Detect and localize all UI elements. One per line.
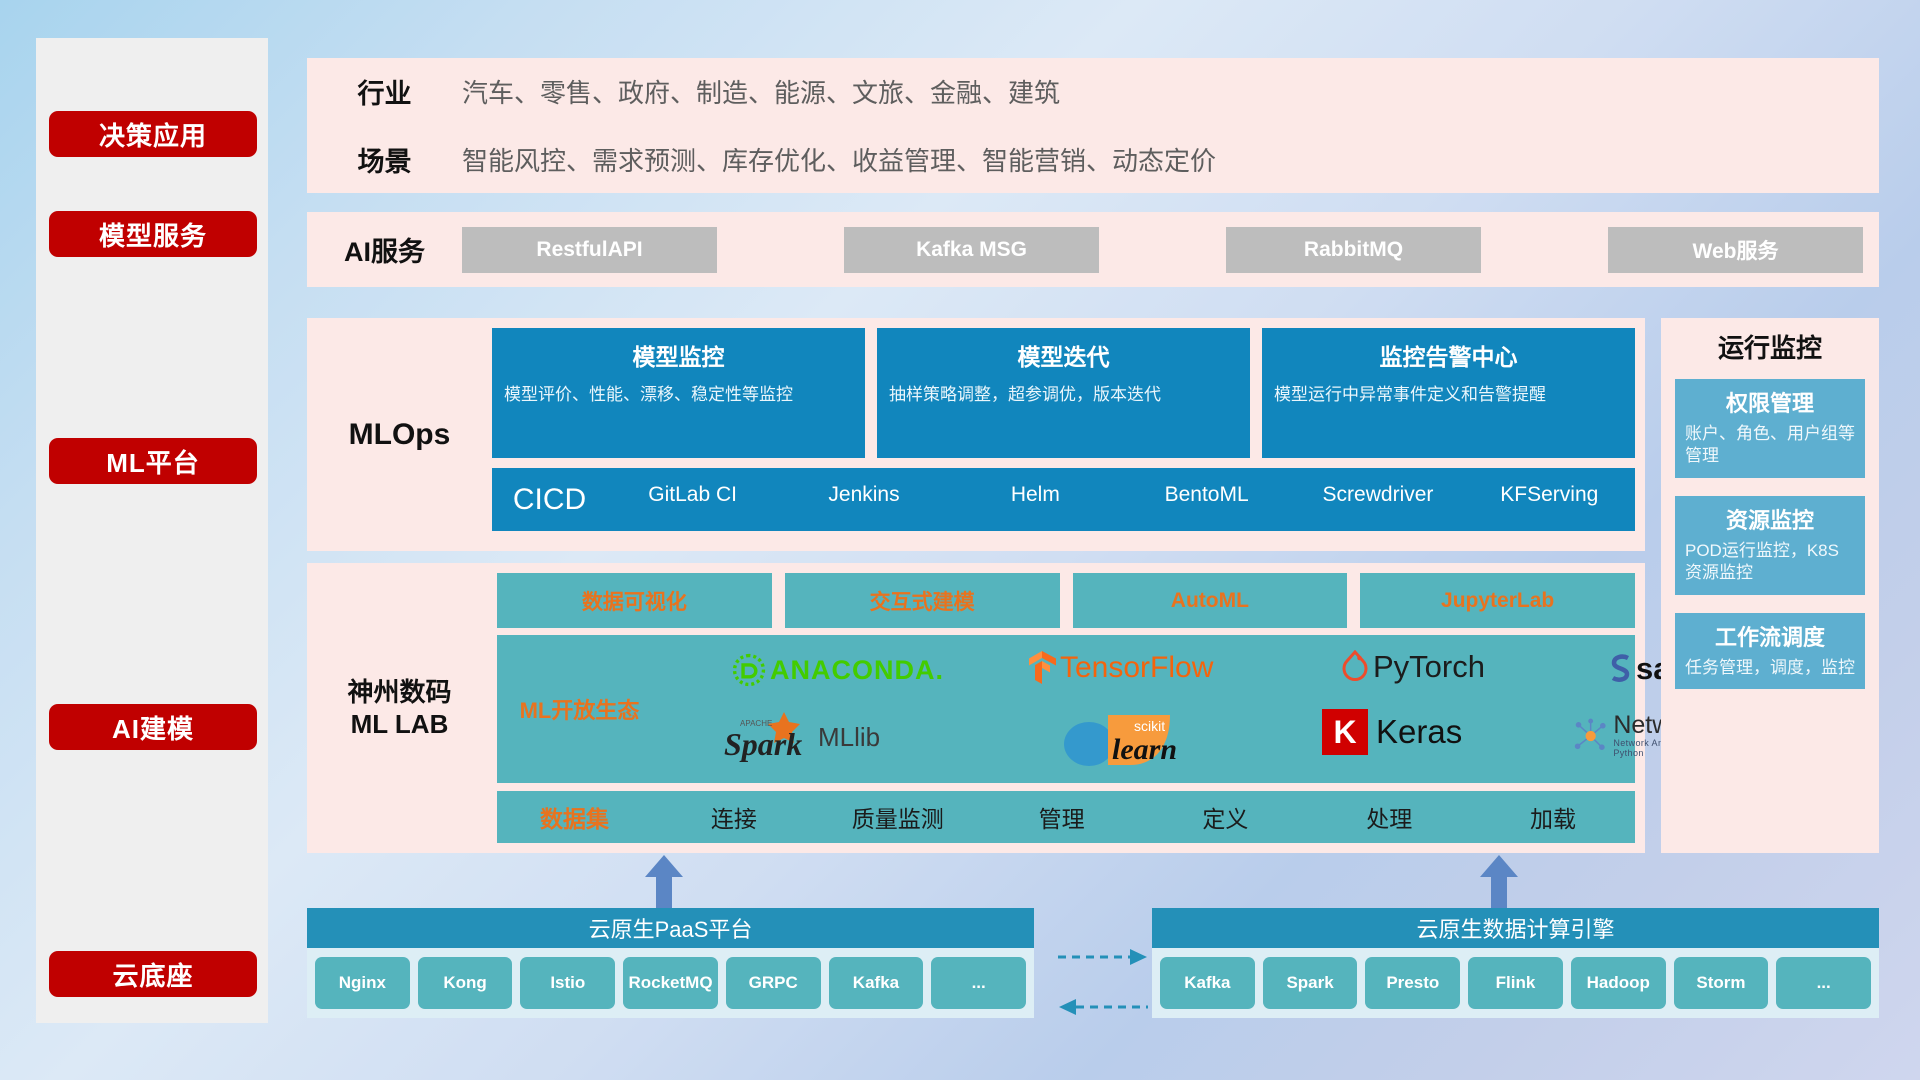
rail-label: AI建模 [112,709,194,746]
cloud-data-engine-group: 云原生数据计算引擎 Kafka Spark Presto Flink Hadoo… [1152,908,1879,1018]
cloud-data-engine-title: 云原生数据计算引擎 [1152,908,1879,948]
cloud-chip-grpc[interactable]: GRPC [726,957,821,1009]
ai-service-label: AI服务 [307,230,462,269]
decision-application-panel: 行业 汽车、零售、政府、制造、能源、文旅、金融、建筑 场景 智能风控、需求预测、… [307,58,1879,193]
ml-ecosystem-label: ML开放生态 [497,693,662,725]
dataset-row: 数据集 连接 质量监测 管理 定义 处理 加载 [497,791,1635,843]
tensorflow-wordmark: TensorFlow [1060,651,1213,685]
card-desc: 模型评价、性能、漂移、稳定性等监控 [504,384,853,407]
cicd-item-gitlab-ci[interactable]: GitLab CI [607,484,778,506]
tensorflow-mark-icon [1027,649,1059,687]
spark-mllib-logo: APACHE Spark MLlib [722,709,880,765]
rail-item-ai-modeling[interactable]: AI建模 [49,704,257,750]
mlops-card-model-monitoring[interactable]: 模型监控 模型评价、性能、漂移、稳定性等监控 [492,328,865,458]
cloud-chip-istio[interactable]: Istio [520,957,615,1009]
rail-item-ml-platform[interactable]: ML平台 [49,438,257,484]
cicd-item-screwdriver[interactable]: Screwdriver [1292,484,1463,506]
sas-mark-icon [1607,653,1635,685]
card-title: 监控告警中心 [1274,338,1623,372]
card-desc: 任务管理，调度，监控 [1685,657,1855,679]
card-title: 权限管理 [1685,386,1855,418]
mllib-wordmark: MLlib [818,722,880,753]
keras-logo: K Keras [1322,709,1462,755]
left-rail: 决策应用 模型服务 ML平台 AI建模 云底座 [36,38,268,1023]
svg-text:scikit: scikit [1134,718,1165,734]
cloud-chip-kafka[interactable]: Kafka [829,957,924,1009]
dataset-item-manage[interactable]: 管理 [980,800,1144,834]
service-button-restfulapi[interactable]: RestfulAPI [462,227,717,273]
left-arrow-icon [1058,998,1148,1021]
networkx-mark-icon [1572,716,1609,756]
svg-text:Spark: Spark [724,726,802,762]
card-desc: 模型运行中异常事件定义和告警提醒 [1274,384,1623,407]
dataset-item-connect[interactable]: 连接 [652,800,816,834]
industry-row: 行业 汽车、零售、政府、制造、能源、文旅、金融、建筑 [307,58,1879,126]
svg-text:learn: learn [1112,733,1177,766]
cicd-item-kfserving[interactable]: KFServing [1464,484,1635,506]
right-arrow-icon [1058,948,1148,971]
card-desc: POD运行监控，K8S资源监控 [1685,540,1855,585]
scenario-values: 智能风控、需求预测、库存优化、收益管理、智能营销、动态定价 [462,141,1216,178]
industry-values: 汽车、零售、政府、制造、能源、文旅、金融、建筑 [462,73,1060,110]
ai-modeling-panel: 神州数码 ML LAB 数据可视化 交互式建模 AutoML JupyterLa… [307,563,1645,853]
monitor-card-workflow[interactable]: 工作流调度 任务管理，调度，监控 [1675,613,1865,689]
cloud-chip-rocketmq[interactable]: RocketMQ [623,957,718,1009]
card-title: 资源监控 [1685,503,1855,535]
dataset-item-define[interactable]: 定义 [1143,800,1307,834]
rail-label: 云底座 [112,956,193,993]
dataset-label: 数据集 [497,800,652,834]
scikit-learn-logo: scikit learn [1062,709,1212,771]
ml-ecosystem-logos: ANACONDA. TensorFlow PyTorch [662,635,1635,783]
tool-row: 数据可视化 交互式建模 AutoML JupyterLab [497,573,1635,628]
ml-lab-line2: ML LAB [351,708,449,741]
tool-interactive-modeling[interactable]: 交互式建模 [785,573,1060,628]
monitor-card-permission[interactable]: 权限管理 账户、角色、用户组等管理 [1675,379,1865,478]
cloud-chip-storm[interactable]: Storm [1674,957,1769,1009]
cicd-bar: CICD GitLab CI Jenkins Helm BentoML Scre… [492,468,1635,531]
mlops-panel: MLOps 模型监控 模型评价、性能、漂移、稳定性等监控 模型迭代 抽样策略调整… [307,318,1645,551]
pytorch-logo: PyTorch [1342,649,1485,685]
tensorflow-logo: TensorFlow [1027,649,1213,687]
service-button-kafka-msg[interactable]: Kafka MSG [844,227,1099,273]
rail-item-decision[interactable]: 决策应用 [49,111,257,157]
rail-item-cloud-base[interactable]: 云底座 [49,951,257,997]
cloud-data-engine-chip-list: Kafka Spark Presto Flink Hadoop Storm ..… [1152,948,1879,1018]
cloud-chip-hadoop[interactable]: Hadoop [1571,957,1666,1009]
cloud-chip-kong[interactable]: Kong [418,957,513,1009]
runtime-monitor-panel: 运行监控 权限管理 账户、角色、用户组等管理 资源监控 POD运行监控，K8S资… [1661,318,1879,853]
rail-label: 模型服务 [99,216,207,253]
scenario-row: 场景 智能风控、需求预测、库存优化、收益管理、智能营销、动态定价 [307,126,1879,194]
rail-item-model-service[interactable]: 模型服务 [49,211,257,257]
pytorch-wordmark: PyTorch [1373,649,1485,685]
dataset-item-quality-monitor[interactable]: 质量监测 [816,800,980,834]
ml-ecosystem-row: ML开放生态 ANACONDA. TensorFlow [497,635,1635,783]
anaconda-wordmark: ANACONDA. [770,655,944,686]
cloud-chip-presto[interactable]: Presto [1365,957,1460,1009]
keras-wordmark: Keras [1376,713,1462,751]
anaconda-logo: ANACONDA. [732,653,944,687]
monitor-card-resource[interactable]: 资源监控 POD运行监控，K8S资源监控 [1675,496,1865,595]
cicd-item-bentoml[interactable]: BentoML [1121,484,1292,506]
card-desc: 账户、角色、用户组等管理 [1685,423,1855,468]
cicd-title: CICD [492,483,607,517]
cloud-chip-spark[interactable]: Spark [1263,957,1358,1009]
industry-label: 行业 [307,72,462,111]
cicd-item-jenkins[interactable]: Jenkins [778,484,949,506]
card-desc: 抽样策略调整，超参调优，版本迭代 [889,384,1238,407]
cloud-chip-more[interactable]: ... [1776,957,1871,1009]
cloud-paas-title: 云原生PaaS平台 [307,908,1034,948]
ml-lab-label: 神州数码 ML LAB [307,563,492,853]
service-button-rabbitmq[interactable]: RabbitMQ [1226,227,1481,273]
scenario-label: 场景 [307,140,462,179]
anaconda-mark-icon [732,653,766,687]
cloud-chip-flink[interactable]: Flink [1468,957,1563,1009]
cloud-paas-group: 云原生PaaS平台 Nginx Kong Istio RocketMQ GRPC… [307,908,1034,1018]
runtime-monitor-title: 运行监控 [1661,318,1879,379]
card-title: 工作流调度 [1685,620,1855,652]
service-button-web[interactable]: Web服务 [1608,227,1863,273]
spark-mark-icon: APACHE Spark [722,709,812,765]
mlops-card-alert-center[interactable]: 监控告警中心 模型运行中异常事件定义和告警提醒 [1262,328,1635,458]
scikit-learn-mark-icon: scikit learn [1062,709,1212,771]
tool-jupyterlab[interactable]: JupyterLab [1360,573,1635,628]
pytorch-mark-icon [1342,650,1368,684]
card-title: 模型迭代 [889,338,1238,372]
dataset-item-load[interactable]: 加载 [1471,800,1635,834]
mlops-card-model-iteration[interactable]: 模型迭代 抽样策略调整，超参调优，版本迭代 [877,328,1250,458]
keras-mark-icon: K [1322,709,1368,755]
mlops-label: MLOps [307,318,492,551]
card-title: 模型监控 [504,338,853,372]
rail-label: ML平台 [106,443,200,480]
tool-data-visualization[interactable]: 数据可视化 [497,573,772,628]
cloud-chip-nginx[interactable]: Nginx [315,957,410,1009]
cloud-chip-more[interactable]: ... [931,957,1026,1009]
mlops-card-list: 模型监控 模型评价、性能、漂移、稳定性等监控 模型迭代 抽样策略调整，超参调优，… [492,328,1635,458]
cicd-item-helm[interactable]: Helm [950,484,1121,506]
rail-label: 决策应用 [99,116,207,153]
ml-lab-line1: 神州数码 [347,676,451,709]
cloud-chip-kafka[interactable]: Kafka [1160,957,1255,1009]
cloud-paas-chip-list: Nginx Kong Istio RocketMQ GRPC Kafka ... [307,948,1034,1018]
dataset-item-process[interactable]: 处理 [1307,800,1471,834]
tool-automl[interactable]: AutoML [1073,573,1348,628]
ai-service-panel: AI服务 RestfulAPI Kafka MSG RabbitMQ Web服务 [307,212,1879,287]
